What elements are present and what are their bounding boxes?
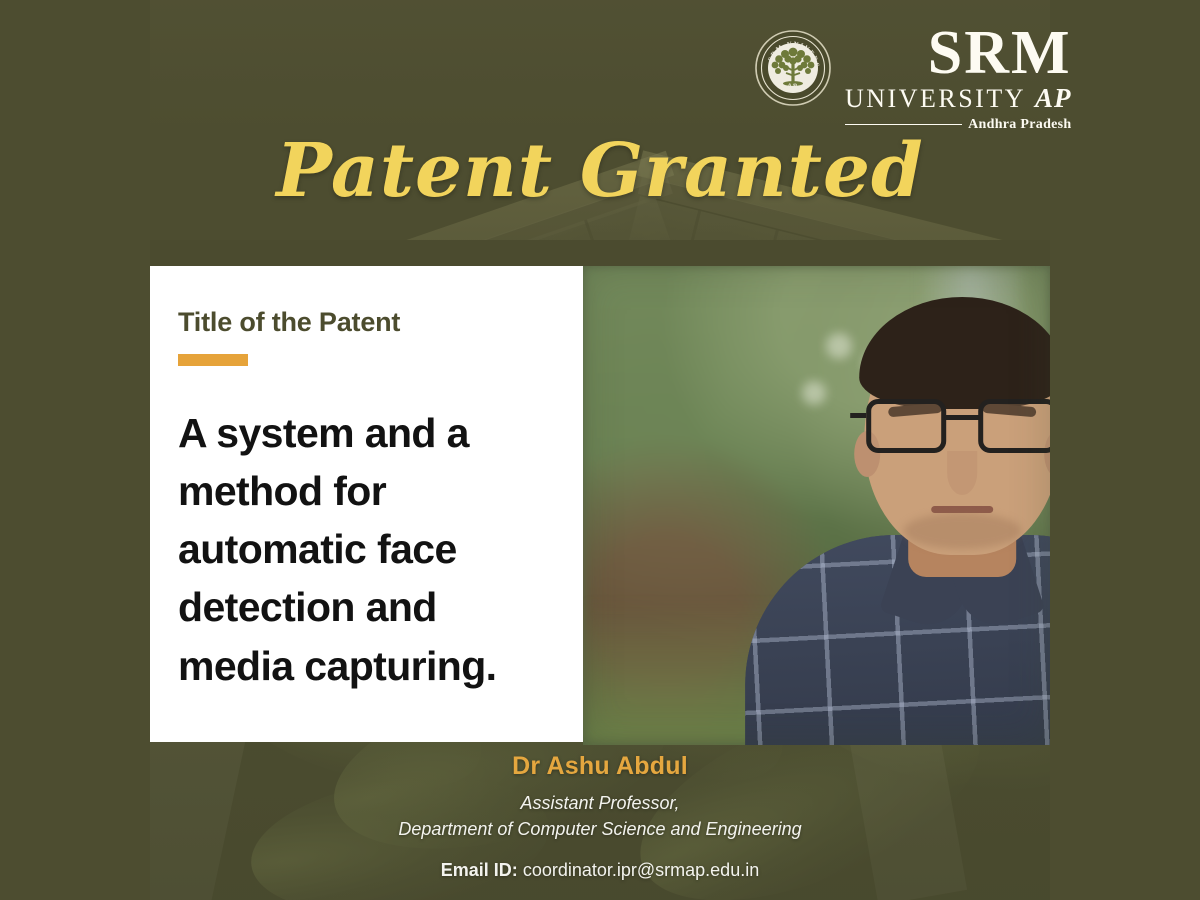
left-olive-band: [0, 0, 150, 900]
patent-granted-poster: SRM UNIVERSITY AP SRM UNIVERSITY AP Andh…: [0, 0, 1200, 900]
svg-text:AP: AP: [787, 82, 800, 90]
patent-info-card: Title of the Patent A system and a metho…: [150, 266, 583, 742]
logo-ap-text: AP: [1035, 85, 1072, 112]
subject-mouth: [931, 506, 993, 513]
email-value: coordinator.ipr@srmap.edu.in: [523, 860, 759, 880]
logo-divider-rule: [845, 124, 962, 126]
eyeglass-temple-left: [850, 413, 866, 418]
faculty-portrait-photo: [583, 266, 1050, 745]
subject-nose: [947, 451, 977, 495]
faculty-designation: Assistant Professor, Department of Compu…: [150, 790, 1050, 842]
logo-srm-text: SRM: [928, 24, 1072, 84]
poster-headline: Patent Granted: [150, 128, 1050, 214]
faculty-designation-line1: Assistant Professor,: [150, 790, 1050, 816]
email-label: Email ID:: [441, 860, 518, 880]
faculty-name: Dr Ashu Abdul: [150, 752, 1050, 781]
subject-eyeglasses: [864, 399, 1050, 457]
srm-tree-emblem-icon: SRM UNIVERSITY AP: [755, 30, 831, 106]
contact-email: Email ID: coordinator.ipr@srmap.edu.in: [150, 860, 1050, 881]
patent-title-text: A system and a method for automatic face…: [178, 404, 553, 695]
right-olive-band: [1050, 0, 1200, 900]
logo-wordmark: SRM UNIVERSITY AP Andhra Pradesh: [845, 24, 1072, 132]
subject-chin-shadow: [903, 513, 1021, 549]
logo-university-text: UNIVERSITY: [845, 86, 1026, 112]
portrait-subject: [797, 325, 1050, 745]
gold-accent-rule: [178, 354, 248, 366]
faculty-designation-line2: Department of Computer Science and Engin…: [150, 816, 1050, 842]
eyeglass-lens-left: [866, 399, 946, 453]
faculty-credits: Dr Ashu Abdul Assistant Professor, Depar…: [150, 752, 1050, 881]
srm-university-ap-logo: SRM UNIVERSITY AP SRM UNIVERSITY AP Andh…: [755, 24, 1035, 139]
card-eyebrow-label: Title of the Patent: [178, 308, 553, 338]
eyeglass-bridge: [944, 415, 980, 420]
eyeglass-lens-right: [978, 399, 1050, 453]
